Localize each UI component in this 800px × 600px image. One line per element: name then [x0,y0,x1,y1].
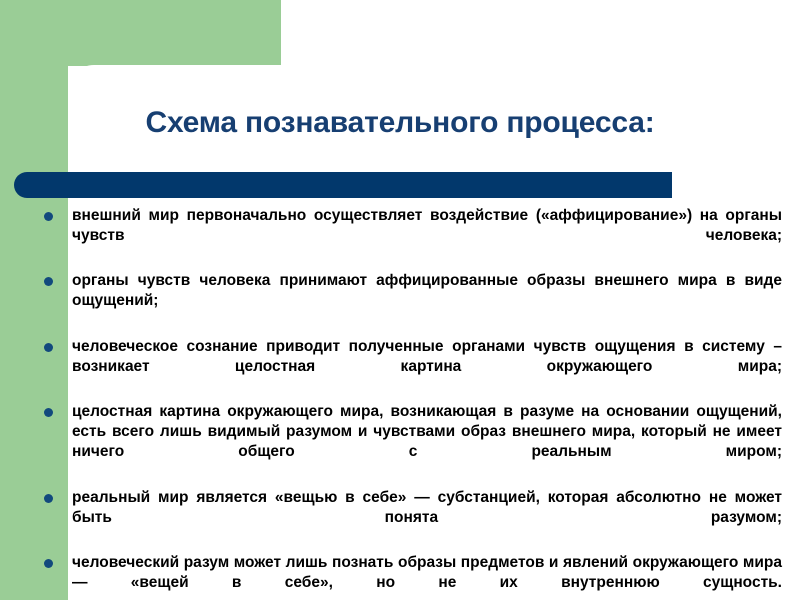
list-item-text: целостная картина окружающего мира, возн… [72,402,782,481]
list-item-text: органы чувств человека принимают аффицир… [72,271,782,330]
list-item: человеческий разум может лишь познать об… [0,553,800,600]
list-item: целостная картина окружающего мира, возн… [0,402,800,481]
list-item: человеческое сознание приводит полученны… [0,337,800,396]
bullet-dot-icon [44,408,53,417]
bullet-dot-icon [44,559,53,568]
bullet-dot-icon [44,494,53,503]
list-item: органы чувств человека принимают аффицир… [0,271,800,330]
list-item-text: внешний мир первоначально осуществляет в… [72,206,782,265]
navy-divider-bar-decoration [14,172,672,198]
bullet-list: внешний мир первоначально осуществляет в… [0,206,800,600]
list-item: реальный мир является «вещью в себе» — с… [0,488,800,547]
list-item: внешний мир первоначально осуществляет в… [0,206,800,265]
bullet-dot-icon [44,343,53,352]
list-item-text: реальный мир является «вещью в себе» — с… [72,488,782,547]
bullet-dot-icon [44,277,53,286]
list-item-text: человеческое сознание приводит полученны… [72,337,782,396]
slide-canvas: Схема познавательного процесса: внешний … [0,0,800,600]
bullet-dot-icon [44,212,53,221]
list-item-text: человеческий разум может лишь познать об… [72,553,782,600]
slide-title: Схема познавательного процесса: [48,108,752,138]
